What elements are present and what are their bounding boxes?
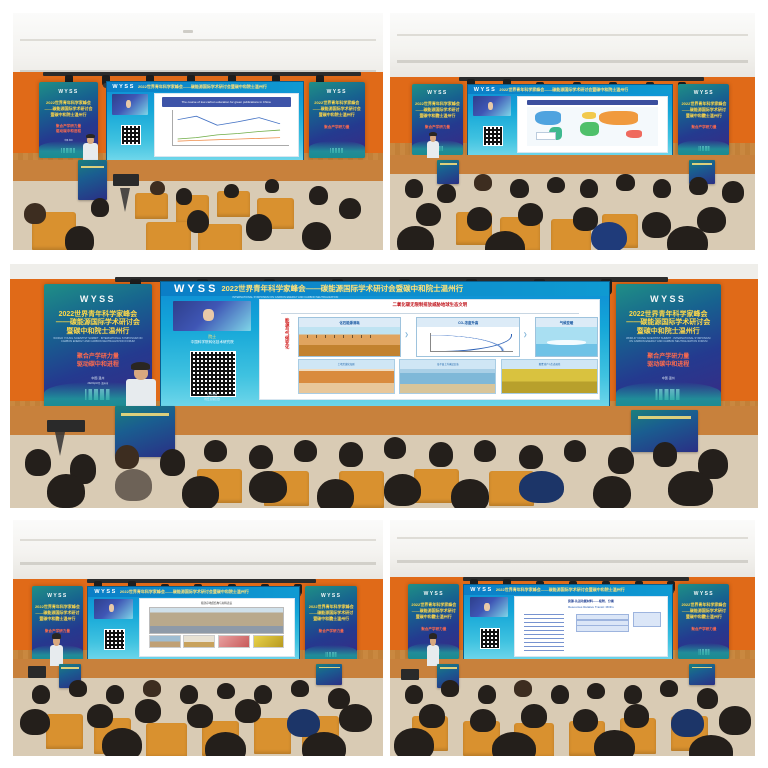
audience-head: [573, 709, 599, 733]
audience-head: [451, 479, 488, 508]
audience-head: [616, 174, 634, 191]
banner-title-line3: 暨碳中和院士温州行: [308, 616, 354, 622]
wyss-logo: WYSS: [678, 90, 729, 96]
ceiling-light-strip: [397, 537, 747, 539]
audience-head: [474, 440, 496, 462]
ceiling-light-strip: [20, 539, 375, 541]
thumb-label: 海平面上升淹没沿海: [400, 360, 495, 369]
audience-head: [510, 179, 528, 198]
panel-label: 气候变暖: [536, 318, 597, 326]
lighting-truss: [87, 579, 316, 583]
audience-head: [624, 704, 650, 728]
audience-head: [265, 179, 280, 193]
lighting-truss: [463, 577, 689, 581]
audience-head: [339, 704, 372, 732]
panel-label: 化石能源消耗: [299, 318, 401, 326]
audience-head: [492, 732, 536, 756]
geology-thumb: [218, 635, 250, 649]
geology-cross-section: [149, 607, 285, 634]
audience-head: [419, 704, 445, 728]
banner-title-line3: 暨碳中和院士温州行: [312, 112, 361, 118]
banner-title-line3: 暨碳中和院士温州行: [681, 614, 726, 620]
audience-chair: [146, 723, 187, 756]
audience-head: [25, 449, 51, 476]
led-screen-center: WYSS 2022世界青年科学家峰会——碳能源国际学术研讨会暨碳中和院士温州行 …: [160, 281, 611, 407]
screen-header: WYSS 2022世界青年科学家峰会——碳能源国际学术研讨会暨碳中和院士温州行: [161, 282, 610, 296]
audience-chair: [46, 714, 83, 749]
audience-head: [339, 442, 363, 466]
banner-slogan-line1: 聚合产学研力量: [313, 125, 360, 130]
audience-head: [667, 226, 707, 250]
continent-europe: [582, 112, 596, 119]
speaker-person: [427, 141, 440, 158]
wyss-logo: WYSS: [408, 591, 459, 597]
audience-head: [689, 177, 707, 196]
audience-head: [519, 445, 543, 469]
audience-chair: [146, 222, 190, 250]
audience-chair: [254, 718, 291, 753]
continent-asia: [599, 111, 638, 124]
screen-header-title: 2022世界青年科学家峰会——碳能源国际学术研讨会暨碳中和院士温州行: [499, 87, 628, 93]
photo-center: WYSS 2022世界青年科学家峰会 ——碳能源国际学术研讨会 暨碳中和院士温州…: [10, 264, 758, 508]
hall-scene-center: WYSS 2022世界青年科学家峰会 ——碳能源国际学术研讨会 暨碳中和院士温州…: [10, 264, 758, 508]
banner-slogan-line1: 聚合产学研力量: [412, 627, 455, 632]
ceiling-light-strip: [20, 39, 375, 41]
wyss-logo: WYSS: [112, 84, 135, 90]
audience-head: [394, 728, 434, 756]
slide-title: 二氧化碳无限制排放威胁地球生态文明: [260, 302, 599, 308]
banner-slogan-line1: 聚合产学研力量: [682, 627, 725, 632]
audience-head: [249, 471, 286, 503]
banner-title-line3: 暨碳中和院士温州行: [681, 113, 726, 119]
audience-head: [521, 704, 547, 728]
audience-head: [291, 680, 310, 697]
slide-bottom-left: 碳封存地质结构与材料表征: [139, 598, 295, 657]
stage-banner-right: WYSS 2022世界青年科学家峰会 ——碳能源国际学术研讨会 暨碳中和院士温州…: [305, 586, 357, 662]
audience-head: [187, 704, 213, 728]
audience-head: [160, 449, 185, 476]
qr-caption-line2: 峰会直播回放: [170, 398, 255, 402]
slide-title-en: Resources Relative Transit: MOFs: [523, 605, 660, 610]
speaker-thumbnail: [473, 96, 511, 115]
hall-scene-bottom-left: WYSS 2022世界青年科学家峰会 ——碳能源国际学术研讨会 暨碳中和院士温州…: [13, 520, 383, 756]
audience-head: [150, 181, 165, 195]
audience-head: [405, 685, 423, 704]
slide-panel-co2: CO₂浓度升高: [416, 317, 520, 357]
continent-north-america: [535, 111, 561, 124]
co2-curve: [432, 334, 512, 352]
speaker-thumbnail: [470, 597, 508, 618]
audience-head: [339, 198, 361, 219]
audience-head: [551, 685, 569, 704]
geology-thumb: [253, 635, 285, 649]
audience-head: [668, 471, 713, 505]
photo-top-left: WYSS 2022世界青年科学家峰会 ——碳能源国际学术研讨会 暨碳中和院士温州…: [13, 13, 383, 250]
banner-title-line3: 暨碳中和院士温州行: [35, 616, 81, 622]
podium-secondary: [316, 664, 342, 685]
audience-head: [20, 709, 50, 735]
audience-head: [205, 732, 246, 756]
audience-head-cap: [671, 709, 704, 737]
slide-panel-warming: 气候变暖: [535, 317, 598, 357]
slide-title: The course of low-carbon education for g…: [162, 97, 291, 107]
screen-header: WYSS 2022世界青年科学家峰会——碳能源国际学术研讨会暨碳中和院士温州行: [88, 587, 299, 597]
audience-head: [246, 214, 272, 240]
screen-header: WYSS 2022世界青年科学家峰会——碳能源国际学术研讨会暨碳中和院士温州行: [107, 82, 303, 92]
led-screen-bottom-left: WYSS 2022世界青年科学家峰会——碳能源国际学术研讨会暨碳中和院士温州行 …: [87, 586, 300, 661]
audience-head: [309, 186, 328, 205]
wyss-logo: WYSS: [412, 90, 463, 96]
ceiling-light-strip: [20, 562, 375, 565]
audience-head: [416, 203, 442, 227]
video-camera-icon: [28, 666, 47, 678]
slide-data-table: 资源·先进功能材料——吸附、分离 Resources Relative Tran…: [515, 597, 667, 656]
led-screen-top-right: WYSS 2022世界青年科学家峰会——碳能源国际学术研讨会暨碳中和院士温州行: [467, 84, 673, 157]
speaker-person: [83, 143, 98, 160]
ceiling-light-strip: [397, 560, 747, 563]
banner-title-english: WORLD YOUNG SCIENTIST SUMMIT · INTERNATI…: [52, 337, 143, 344]
audience-chair: [135, 193, 168, 219]
banner-title-line3: 暨碳中和院士温州行: [42, 112, 94, 118]
slide-thumb-crop-loss: 粮食减产与生态退化: [501, 359, 598, 395]
geology-thumb: [149, 635, 181, 649]
panel-illustration-rising-curve: [417, 327, 519, 356]
table-data-grid: [524, 611, 564, 651]
slide-center: 二氧化碳无限制排放威胁地球生态文明 能源与气候变化 化石能源消耗 ❯ CO₂浓度…: [259, 299, 600, 400]
audience-head: [65, 226, 95, 250]
lighting-truss: [459, 77, 704, 81]
audience-head: [87, 704, 113, 728]
hall-scene-bottom-right: WYSS 2022世界青年科学家峰会 ——碳能源国际学术研讨会 暨碳中和院士温州…: [390, 520, 755, 756]
photo-bottom-right: WYSS 2022世界青年科学家峰会 ——碳能源国际学术研讨会 暨碳中和院士温州…: [390, 520, 755, 756]
audience-head: [653, 179, 671, 198]
ceiling: [390, 520, 755, 577]
stage-banner-right: WYSS 2022世界青年科学家峰会 ——碳能源国际学术研讨会 暨碳中和院士温州…: [309, 82, 365, 158]
audience-head: [249, 445, 273, 469]
audience-head: [24, 203, 46, 224]
slide-thumb-desertification: 土地荒漠化加剧: [298, 359, 395, 395]
qr-caption-line1: 扫码观看: [170, 393, 255, 397]
audience-head: [467, 207, 493, 231]
speaker-person: [126, 379, 156, 408]
wyss-logo: WYSS: [32, 593, 84, 599]
banner-title-line3: 暨碳中和院士温州行: [50, 327, 145, 338]
banner-slogan-line1: 聚合产学研力量: [682, 125, 725, 130]
audience-head: [115, 469, 152, 501]
screen-side-panel: [92, 599, 134, 658]
world-map-area: [527, 107, 658, 146]
audience-head: [115, 445, 139, 469]
panel-label: CO₂浓度升高: [417, 318, 519, 326]
audience-head: [32, 685, 51, 704]
banner-slogan-line2: 驱动碳中和进程: [52, 361, 143, 370]
geology-thumb: [183, 635, 215, 649]
slide-panel-fossil-fuel: 化石能源消耗: [298, 317, 402, 357]
audience-head: [135, 699, 161, 723]
audience-head: [593, 476, 630, 508]
speaker-thumbnail: [94, 599, 133, 619]
audience-head: [180, 685, 199, 704]
photo-bottom-left: WYSS 2022世界青年科学家峰会 ——碳能源国际学术研讨会 暨碳中和院士温州…: [13, 520, 383, 756]
panel-illustration-desert-oil: [299, 327, 401, 356]
screen-header-title: 2022世界青年科学家峰会——碳能源国际学术研讨会暨碳中和院士温州行: [496, 587, 625, 593]
slide-vertical-label: 能源与气候变化: [265, 318, 289, 349]
audience-head: [653, 442, 677, 466]
speaker-affiliation: 中国科学院转化技术研究院: [170, 340, 255, 345]
audience-head: [182, 476, 219, 508]
audience-head: [608, 447, 633, 474]
wyss-logo: WYSS: [678, 591, 729, 597]
qr-code-icon: [480, 628, 500, 648]
table-callout: [576, 625, 630, 631]
continent-australia: [626, 130, 642, 138]
audience-head: [437, 184, 455, 203]
slide-thumb-sea-level: 海平面上升淹没沿海: [399, 359, 496, 395]
ceiling: [13, 520, 383, 579]
skyline-icon: [83, 389, 113, 400]
stage-banner-right: WYSS 2022世界青年科学家峰会 ——碳能源国际学术研讨会 暨碳中和院士温州…: [678, 584, 729, 660]
photo-collage: WYSS 2022世界青年科学家峰会 ——碳能源国际学术研讨会 暨碳中和院士温州…: [0, 0, 768, 768]
audience-head: [384, 437, 406, 459]
audience-head: [594, 730, 634, 756]
podium-secondary: [689, 664, 715, 685]
audience-head: [580, 179, 598, 198]
podium: [78, 160, 108, 200]
map-legend: [536, 132, 556, 140]
audience-head: [478, 685, 496, 704]
podium: [437, 160, 459, 184]
screen-header: WYSS 2022世界青年科学家峰会——碳能源国际学术研讨会暨碳中和院士温州行: [464, 585, 672, 595]
qr-code-icon: [483, 126, 503, 146]
audience-head: [302, 732, 346, 756]
wyss-logo: WYSS: [474, 87, 497, 93]
audience-head: [642, 212, 671, 238]
slide-world-map: [518, 97, 667, 153]
audience-head: [397, 226, 434, 250]
screen-side-panel: [472, 96, 513, 153]
audience-head: [176, 188, 193, 205]
skyline-icon: [329, 148, 345, 153]
lighting-truss: [43, 72, 361, 76]
audience-head: [518, 203, 544, 227]
skyline-icon: [324, 652, 339, 657]
banner-title-english: WORLD YOUNG SCIENTIST SUMMIT · INTERNATI…: [624, 337, 712, 344]
wyss-logo: WYSS: [39, 89, 98, 95]
audience-head: [587, 683, 605, 700]
speaker-thumbnail: [112, 94, 148, 115]
banner-slogan-line1: 聚合产学研力量: [416, 125, 459, 130]
wyss-logo: WYSS: [470, 587, 493, 593]
audience-head: [47, 474, 84, 508]
slide-title-cn: 资源·先进功能材料——吸附、分离: [523, 599, 660, 604]
slide-title-bar: [527, 100, 658, 105]
qr-code-icon: [104, 629, 125, 650]
stage-banner-right: WYSS 2022世界青年科学家峰会 ——碳能源国际学术研讨会 暨碳中和院士温州…: [678, 84, 729, 155]
audience-head: [235, 699, 261, 723]
continent-africa: [580, 122, 598, 136]
ceiling-light-strip: [397, 60, 747, 63]
audience-head: [470, 709, 496, 733]
slide-bottom-right: 资源·先进功能材料——吸附、分离 Resources Relative Tran…: [514, 596, 668, 657]
wyss-logo: WYSS: [44, 294, 152, 304]
audience-head: [224, 184, 239, 198]
screen-header-title: 2022世界青年科学家峰会——碳能源国际学术研讨会暨碳中和院士温州行: [221, 283, 463, 294]
screen-header-title: 2022世界青年科学家峰会——碳能源国际学术研讨会暨碳中和院士温州行: [138, 84, 267, 90]
panel-illustration-melting-ice: [536, 327, 597, 356]
screen-side-panel: 院士 中国科学院转化技术研究院 扫码观看 峰会直播回放: [170, 301, 255, 402]
skyline-icon: [697, 649, 711, 654]
banner-title-line3: 暨碳中和院士温州行: [411, 614, 456, 620]
audience-head: [719, 706, 752, 734]
audience-head: [317, 479, 354, 508]
audience-head: [441, 680, 459, 697]
slide-line-chart: The course of low-carbon education for g…: [155, 94, 298, 155]
geology-thumb-row: [149, 635, 285, 649]
qr-code-icon: [121, 125, 140, 144]
banner-slogan-line2: 驱动碳中和进程: [624, 361, 712, 370]
chart-plot-area: [172, 110, 289, 146]
wyss-logo: WYSS: [174, 283, 218, 295]
slide-top-right: [517, 96, 668, 154]
audience-head: [204, 440, 226, 462]
camera-tripod: [120, 188, 130, 212]
audience-head: [294, 440, 316, 462]
wyss-logo: WYSS: [305, 593, 357, 599]
audience-head: [722, 181, 744, 202]
hall-scene-top-right: WYSS 2022世界青年科学家峰会 ——碳能源国际学术研讨会 暨碳中和院士温州…: [390, 13, 755, 250]
audience-head: [564, 440, 586, 462]
audience-head: [429, 442, 453, 466]
audience-head-cap: [591, 222, 628, 250]
hall-scene-top-left: WYSS 2022世界青年科学家峰会 ——碳能源国际学术研讨会 暨碳中和院士温州…: [13, 13, 383, 250]
arrow-right-icon: ❯: [404, 333, 408, 338]
camera-tripod: [55, 432, 65, 456]
led-screen-bottom-right: WYSS 2022世界青年科学家峰会——碳能源国际学术研讨会暨碳中和院士温州行 …: [463, 584, 673, 662]
led-screen-top-left: WYSS 2022世界青年科学家峰会——碳能源国际学术研讨会暨碳中和院士温州行 …: [106, 81, 304, 161]
wyss-logo: WYSS: [94, 589, 117, 595]
audience-head: [91, 198, 110, 217]
audience-head: [384, 474, 421, 506]
video-camera-icon: [401, 669, 419, 681]
slide-top-left: The course of low-carbon education for g…: [154, 93, 299, 156]
audience-head: [405, 179, 423, 198]
slide-geology: 碳封存地质结构与材料表征: [140, 599, 294, 656]
audience-head: [624, 685, 642, 704]
ceiling: [390, 13, 755, 77]
arrow-right-icon: ❯: [523, 333, 527, 338]
video-camera-icon: [47, 420, 84, 432]
audience-head: [217, 683, 236, 700]
video-camera-icon: [113, 174, 139, 186]
ceiling-vent-icon: [183, 30, 193, 33]
line-chart-svg: [173, 110, 289, 145]
skyline-icon: [60, 148, 77, 153]
banner-title-line3: 暨碳中和院士温州行: [622, 327, 714, 338]
banner-slogan-line1: 聚合产学研力量: [309, 629, 353, 634]
thumb-label: 粮食减产与生态退化: [502, 360, 597, 369]
audience-head: [474, 174, 492, 191]
slide-title: 碳封存地质结构与材料表征: [149, 601, 285, 605]
audience-head: [660, 680, 678, 697]
wyss-logo: WYSS: [616, 294, 721, 304]
audience-head: [187, 210, 209, 234]
audience-head: [106, 685, 125, 704]
skyline-icon: [697, 146, 711, 151]
stage-platform: [13, 160, 383, 181]
speaker-thumbnail: [173, 301, 251, 331]
audience-head-cap: [519, 471, 564, 503]
skyline-icon: [654, 389, 683, 400]
audience-head: [697, 688, 719, 709]
screen-side-panel: [110, 94, 149, 157]
audience-head: [143, 680, 162, 697]
stage-banner-right: WYSS 2022世界青年科学家峰会 ——碳能源国际学术研讨会 暨碳中和院士温州…: [616, 284, 721, 411]
wyss-logo: WYSS: [309, 89, 365, 95]
qr-code-icon: [190, 351, 236, 397]
audience-head: [547, 177, 565, 194]
banner-title-line3: 暨碳中和院士温州行: [415, 113, 460, 119]
audience-head: [302, 222, 332, 250]
photo-top-right: WYSS 2022世界青年科学家峰会 ——碳能源国际学术研讨会 暨碳中和院士温州…: [390, 13, 755, 250]
thumb-label: 土地荒漠化加剧: [299, 360, 394, 369]
audience-head: [514, 680, 532, 697]
table-callout: [633, 612, 661, 627]
ceiling-light-strip: [397, 34, 747, 36]
screen-header-title: 2022世界青年科学家峰会——碳能源国际学术研讨会暨碳中和院士温州行: [120, 589, 249, 595]
screen-side-panel: [468, 597, 510, 657]
screen-header: WYSS 2022世界青年科学家峰会——碳能源国际学术研讨会暨碳中和院士温州行: [468, 85, 672, 94]
banner-city: 中国·温州: [616, 376, 721, 380]
slide-title-rule: [281, 313, 579, 314]
audience-head: [69, 680, 88, 697]
